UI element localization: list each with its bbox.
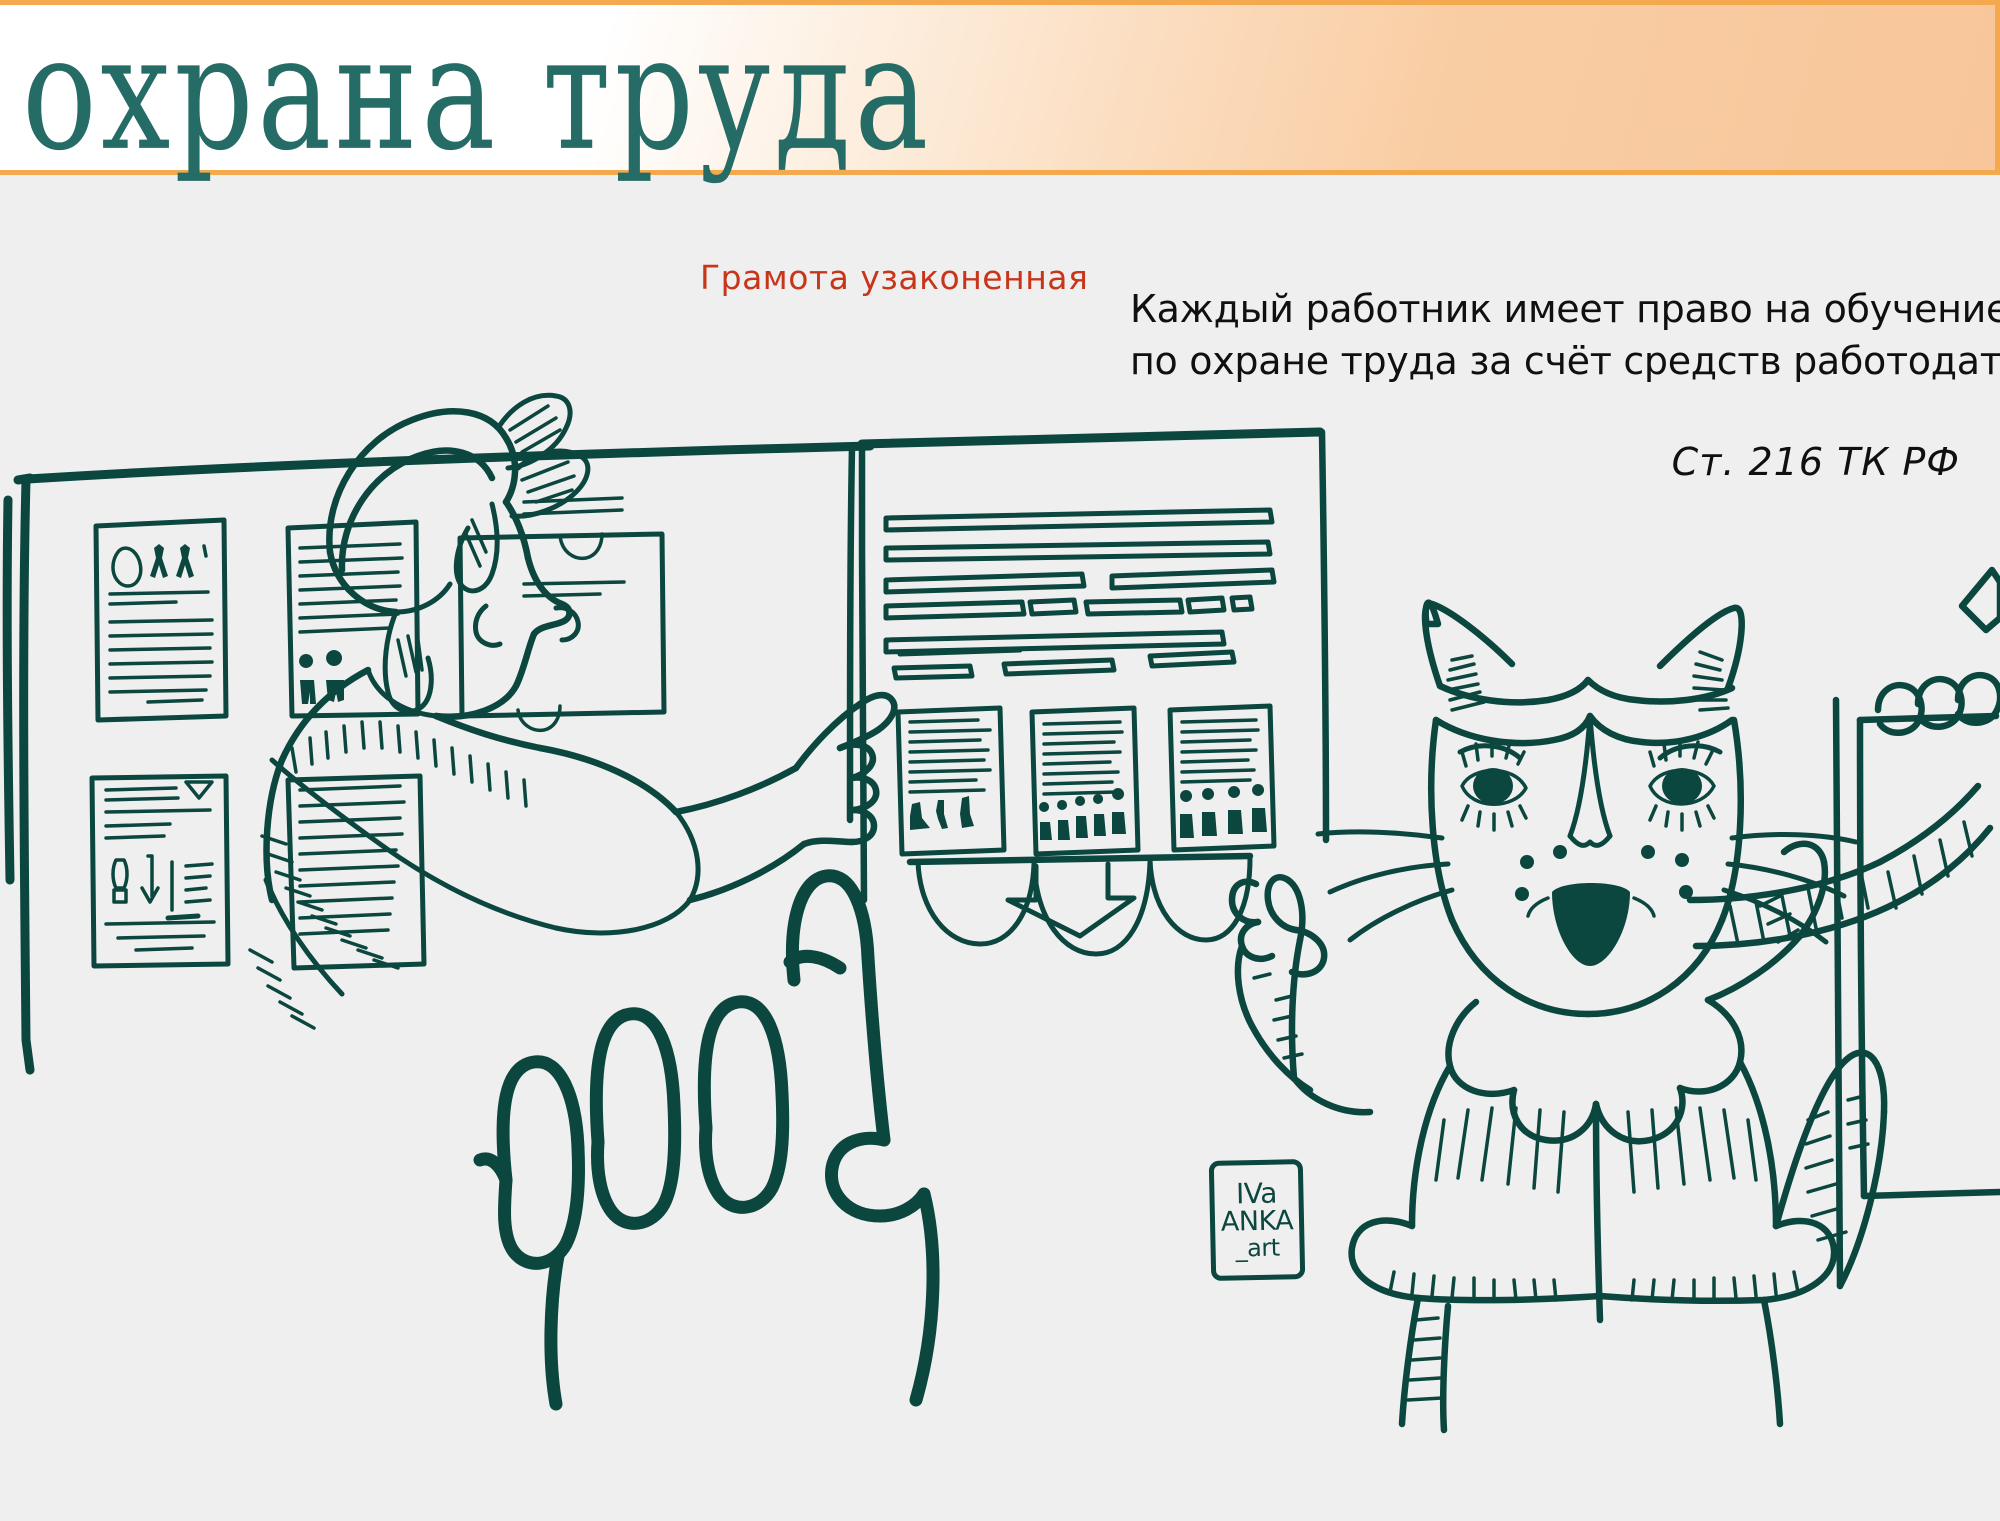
watermark-line-2: ANKA <box>1221 1208 1294 1237</box>
watermark-line-1: IVa <box>1236 1179 1277 1208</box>
slide-canvas: охрана труда Грамота узаконенная Каждый … <box>0 0 2000 1521</box>
poster-right-3 <box>1170 706 1274 850</box>
poster-bottom-left <box>92 776 228 966</box>
poster-top-middle <box>288 522 418 716</box>
illustration <box>0 0 2000 1521</box>
information-board <box>7 432 1326 1070</box>
statement-text: Каждый работник имеет право на обучение … <box>1130 283 1960 387</box>
diamond-accent <box>1962 570 2000 630</box>
page-title: охрана труда <box>22 9 932 179</box>
blank-sheet <box>460 498 664 730</box>
poster-right-1 <box>898 708 1004 854</box>
poster-top-left <box>96 520 226 720</box>
board-right-text-lines <box>886 510 1274 678</box>
blank-sign <box>1836 675 2000 1286</box>
poster-bottom-middle <box>288 776 424 968</box>
cat-character <box>1232 603 1990 1430</box>
kicker-text: Грамота узаконенная <box>700 258 1088 297</box>
header-band: охрана труда <box>0 0 2000 175</box>
woman-worker <box>250 395 894 1028</box>
poster-right-2 <box>1032 708 1138 854</box>
statement-line-2: по охране труда за счёт средств работода… <box>1130 335 1960 387</box>
statement-line-1: Каждый работник имеет право на обучение <box>1130 283 1960 335</box>
artist-watermark: IVa ANKA _art <box>1209 1159 1305 1281</box>
down-arrow-banner <box>910 856 1250 954</box>
watermark-line-3: _art <box>1235 1235 1279 1260</box>
citation-text: Ст. 216 ТК РФ <box>1400 440 1960 484</box>
pointing-hand <box>480 876 933 1404</box>
